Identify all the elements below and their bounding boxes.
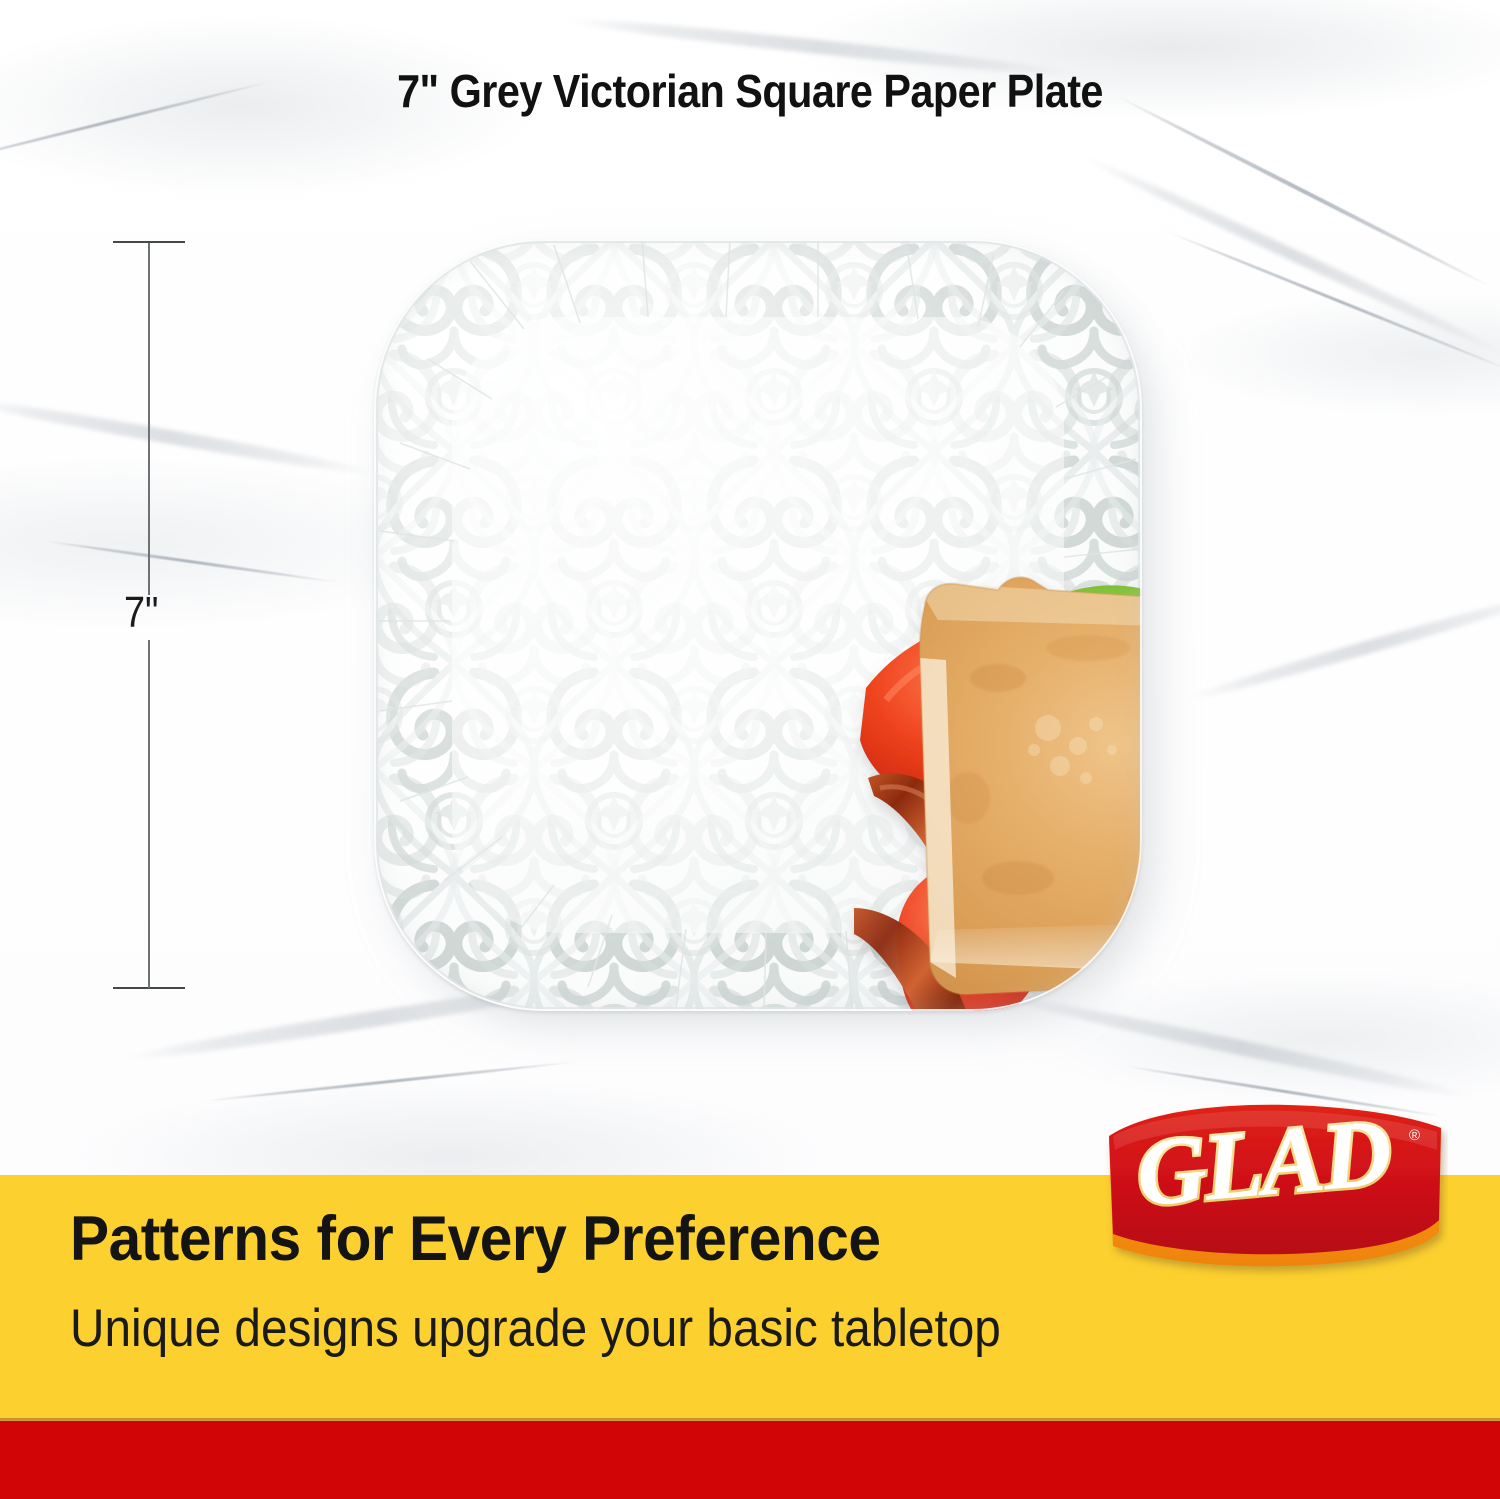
product-marketing-image: 7" Grey Victorian Square Paper Plate 7" — [0, 0, 1500, 1499]
registered-trademark-symbol: ® — [1409, 1127, 1420, 1144]
blt-sandwich — [748, 478, 1142, 1011]
page-title: 7" Grey Victorian Square Paper Plate — [75, 64, 1425, 118]
dimension-line-lower — [148, 640, 150, 988]
paper-plate — [374, 239, 1142, 1011]
promo-headline: Patterns for Every Preference — [70, 1203, 880, 1275]
glad-logo: GLAD ® — [1103, 1104, 1448, 1286]
footer-stripe — [0, 1421, 1500, 1499]
promo-subline: Unique designs upgrade your basic tablet… — [70, 1298, 1001, 1359]
dimension-line-upper — [148, 243, 150, 595]
dimension-label: 7" — [124, 588, 158, 638]
